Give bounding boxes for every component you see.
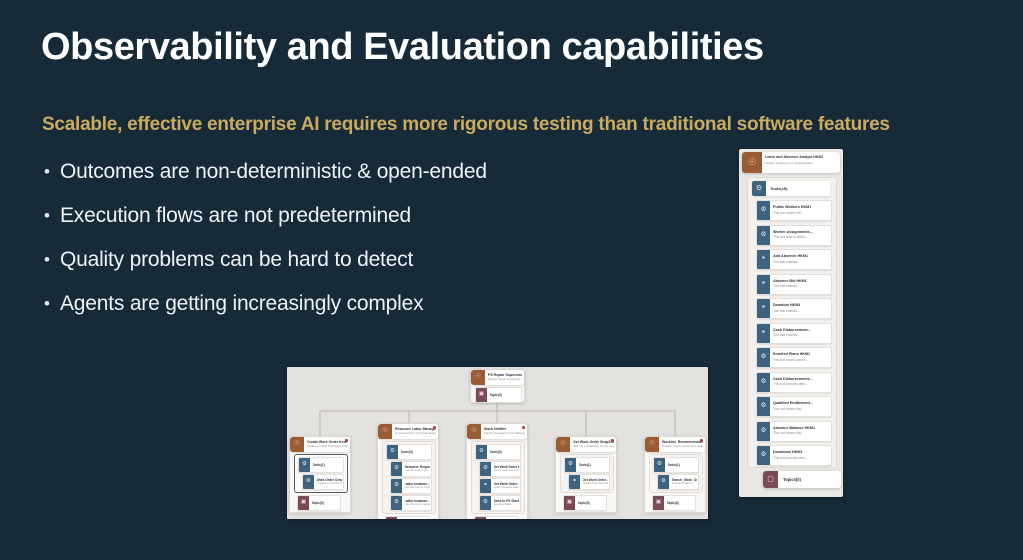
tool-desc: This tool returns the... bbox=[773, 211, 811, 215]
tools-icon: ⚙ bbox=[387, 445, 398, 459]
tool-desc: This tool returns detail... bbox=[773, 235, 813, 239]
slide-root: Observability and Evaluation capabilitie… bbox=[0, 0, 1023, 560]
flowchart-agent-node[interactable]: ☉Slack NotifierSends messages to the Mai… bbox=[466, 423, 528, 519]
list-item[interactable]: ⚙Labor Instance...Use this tool to check… bbox=[390, 478, 432, 494]
flowchart-agent-node[interactable]: ☉Worklist_RecommendationProvides high-co… bbox=[644, 436, 706, 513]
tools-icon: ⚙ bbox=[299, 458, 310, 472]
node-tools-header[interactable]: ⚙Tools(1) bbox=[564, 457, 610, 473]
node-tools-group[interactable]: ⚙Tools(3)⚙Get Work Order By...Query work… bbox=[471, 441, 525, 514]
tool-name: Topic(0) bbox=[490, 393, 502, 397]
tool-name: Enrolled Plans HKM1 bbox=[773, 352, 810, 357]
bullet-marker-icon: • bbox=[44, 292, 60, 316]
tools-icon: ⚙ bbox=[654, 458, 665, 472]
flowchart-root-node[interactable]: ☉PS Repair SupervisorRecommends Supervis… bbox=[470, 369, 525, 403]
tool-desc: Order the work status... bbox=[494, 486, 520, 490]
panel-agent-header: ☉ Leave and Absence Analyst HKM1 Assists… bbox=[742, 152, 840, 173]
page-subtitle: Scalable, effective enterprise AI requir… bbox=[42, 114, 890, 136]
status-badge bbox=[700, 439, 703, 442]
node-topics-row[interactable]: ▣Topic(0) bbox=[563, 495, 607, 511]
agent-icon: ☉ bbox=[556, 437, 570, 452]
tool-name: Labor Instance... bbox=[405, 499, 431, 503]
tools-count: Tools(1) bbox=[313, 463, 325, 467]
list-item[interactable]: ⚭Add Absence HKM1Tool that enables... bbox=[756, 249, 832, 270]
list-item[interactable]: ⚭Get Work Order...Order the work status.… bbox=[479, 478, 521, 494]
status-badge bbox=[522, 426, 525, 429]
flowchart-agent-node[interactable]: ☉Create Work Order from WorkCreate an Wo… bbox=[289, 436, 351, 513]
tool-desc: This tool returns the... bbox=[773, 407, 813, 411]
list-item[interactable]: ⚙Send to PS Slack...Sending Slack... bbox=[479, 495, 521, 511]
agent-flowchart-screenshot: ☉PS Repair SupervisorRecommends Supervis… bbox=[287, 367, 708, 519]
gear-icon: ⚙ bbox=[757, 373, 770, 392]
status-badge bbox=[345, 439, 348, 442]
node-subtitle: Sends messages to the Maintenance... bbox=[484, 431, 525, 435]
tool-desc: This tool returns absen... bbox=[773, 358, 810, 362]
list-item: • Execution flows are not predetermined bbox=[44, 204, 664, 228]
node-tools-group[interactable]: ⚙Tools(1)⚭Get Work Order...Obtain this p… bbox=[560, 454, 614, 493]
link-icon: ⚭ bbox=[480, 479, 491, 493]
node-topics-row[interactable]: ▣Topic(0) bbox=[475, 387, 522, 403]
tools-count: Tools(3) bbox=[490, 450, 502, 454]
list-item[interactable]: ⚙Work Order CreatorCreates a new ITC Wor… bbox=[302, 474, 344, 490]
node-subtitle: Provides high-control work defines... bbox=[662, 444, 703, 448]
list-item[interactable]: ⚭Absence Bid HKM1Tool that enables... bbox=[756, 274, 832, 295]
gear-icon: ⚙ bbox=[757, 446, 770, 465]
tool-name: Labor Instance... bbox=[405, 482, 431, 486]
topics-icon: ▣ bbox=[386, 517, 397, 519]
agent-tools-panel-screenshot: ☉ Leave and Absence Analyst HKM1 Assists… bbox=[739, 149, 843, 497]
tool-name: Donations HKM1 bbox=[773, 450, 808, 455]
gear-icon: ⚙ bbox=[757, 397, 770, 416]
link-icon: ⚭ bbox=[757, 299, 770, 318]
node-title: Worklist_Recommendation bbox=[662, 440, 703, 444]
tool-desc: This tool returns the... bbox=[773, 431, 815, 435]
topics-icon: ▣ bbox=[475, 517, 486, 519]
list-item[interactable]: ⚙Get Work Order By...Query work and form… bbox=[479, 461, 521, 477]
bullet-marker-icon: • bbox=[44, 160, 60, 184]
agent-icon: ☉ bbox=[645, 437, 659, 452]
panel-agent-subtitle: Assists employees in understandin... bbox=[765, 161, 823, 165]
panel-topics-footer[interactable]: ▢ Topics(0) bbox=[763, 471, 841, 488]
tool-name: Get Work Order... bbox=[583, 478, 609, 482]
gear-icon: ⚙ bbox=[757, 226, 770, 245]
tool-name: Topic(0) bbox=[667, 501, 679, 505]
node-topics-row[interactable]: ▣Topic(0) bbox=[474, 516, 518, 519]
gear-icon: ⚙ bbox=[658, 475, 669, 489]
node-tools-group[interactable]: ⚙Tools(3)⚙Resource Requiremen...Use this… bbox=[382, 441, 436, 514]
tool-name: Topic(0) bbox=[578, 501, 590, 505]
panel-tools-header[interactable]: ⚙ Tools(15) bbox=[752, 181, 830, 196]
bullet-text: Execution flows are not predetermined bbox=[60, 204, 411, 228]
link-icon: ⚭ bbox=[757, 250, 770, 269]
tool-desc: Tool that enables... bbox=[773, 309, 800, 313]
tool-name: Get Work Order... bbox=[494, 482, 520, 486]
tool-name: Get Work Order By... bbox=[494, 465, 520, 469]
tools-count: Tools(1) bbox=[579, 463, 591, 467]
topics-icon: ▢ bbox=[763, 471, 778, 488]
flowchart-agent-node[interactable]: ☉Resource Labor ManagerA specialized in … bbox=[377, 423, 439, 519]
tool-desc: Tool that enables... bbox=[773, 333, 811, 337]
link-icon: ⚭ bbox=[757, 324, 770, 343]
node-title: Create Work Order from Work bbox=[307, 440, 348, 444]
gear-icon: ⚙ bbox=[303, 475, 314, 489]
list-item[interactable]: ⚙Resource Requiremen...Use this tool to … bbox=[390, 461, 432, 477]
tool-desc: To Search Work... bbox=[672, 482, 698, 486]
list-item[interactable]: ⚙Qualified Entitlement...This tool retur… bbox=[756, 396, 832, 417]
tool-name: Absence Bid HKM1 bbox=[773, 279, 807, 284]
agent-icon: ☉ bbox=[742, 152, 762, 173]
tool-name: Cash Disbursement... bbox=[773, 328, 811, 333]
bullet-text: Agents are getting increasingly complex bbox=[60, 292, 423, 316]
tool-name: Worker Assignments... bbox=[773, 230, 813, 235]
bullet-text: Outcomes are non-deterministic & open-en… bbox=[60, 160, 487, 184]
node-subtitle: Returns a SnapShot on the county... bbox=[573, 444, 614, 448]
panel-topics-count: Topics(0) bbox=[778, 471, 801, 488]
gear-icon: ⚙ bbox=[480, 462, 491, 476]
bullet-list: • Outcomes are non-deterministic & open-… bbox=[44, 160, 664, 336]
tool-name: Search_Work_Orderit... bbox=[672, 478, 698, 482]
tool-desc: Sending Slack... bbox=[494, 503, 520, 507]
tool-name: Work Order Creator bbox=[317, 478, 343, 482]
gear-icon: ⚙ bbox=[757, 201, 770, 220]
node-subtitle: A specialized in technical assess... bbox=[395, 431, 436, 435]
panel-agent-title: Leave and Absence Analyst HKM1 bbox=[765, 155, 823, 160]
agent-icon: ☉ bbox=[378, 424, 392, 439]
agent-icon: ☉ bbox=[467, 424, 481, 439]
list-item[interactable]: ⚭Get Work Order...Obtain this parameters… bbox=[568, 474, 610, 490]
gear-icon: ⚙ bbox=[391, 479, 402, 493]
node-tools-group[interactable]: ⚙Tools(1)⚙Work Order CreatorCreates a ne… bbox=[294, 454, 348, 493]
node-topics-row[interactable]: ▣Topic(0) bbox=[652, 495, 696, 511]
node-title: Resource Labor Manager bbox=[395, 427, 436, 431]
tools-count: Tools(1) bbox=[668, 463, 680, 467]
tool-desc: Use this tool to update... bbox=[405, 503, 431, 507]
node-topics-row[interactable]: ▣Topic(0) bbox=[385, 516, 429, 519]
gear-icon: ⚙ bbox=[391, 496, 402, 510]
gear-icon: ⚙ bbox=[757, 348, 770, 367]
node-subtitle: Create an Work Purchase, Proposal... bbox=[307, 444, 348, 448]
tools-icon: ⚙ bbox=[565, 458, 576, 472]
node-tools-group[interactable]: ⚙Tools(1)⚙Search_Work_Orderit...To Searc… bbox=[649, 454, 703, 493]
tool-name: Resource Requiremen... bbox=[405, 465, 431, 469]
tool-name: Add Absence HKM1 bbox=[773, 254, 808, 259]
status-badge bbox=[611, 439, 614, 442]
tool-desc: Use this tool to get... bbox=[405, 469, 431, 473]
tool-name: Absence Balance HKM1 bbox=[773, 426, 815, 431]
tool-name: Qualified Entitlement... bbox=[773, 401, 813, 406]
tool-desc: This tool provides deta... bbox=[773, 456, 808, 460]
tool-name: Public Workers HKM1 bbox=[773, 205, 811, 210]
link-icon: ⚭ bbox=[569, 475, 580, 489]
topics-icon: ▣ bbox=[476, 388, 487, 402]
topics-icon: ▣ bbox=[653, 496, 664, 510]
node-subtitle: Recommends Supervisor for... bbox=[488, 377, 522, 381]
gear-icon: ⚙ bbox=[757, 422, 770, 441]
list-item[interactable]: ⚭Donation HKM1Tool that enables... bbox=[756, 298, 832, 319]
tool-desc: Creates a new ITC Work... bbox=[317, 482, 343, 486]
topics-icon: ▣ bbox=[298, 496, 309, 510]
gear-icon: ⚙ bbox=[391, 462, 402, 476]
list-item: • Outcomes are non-deterministic & open-… bbox=[44, 160, 664, 184]
bullet-text: Quality problems can be hard to detect bbox=[60, 248, 413, 272]
flowchart-agent-node[interactable]: ☉Get Work Order SnapShotReturns a SnapSh… bbox=[555, 436, 617, 513]
list-item[interactable]: ⚙Search_Work_Orderit...To Search Work... bbox=[657, 474, 699, 490]
gear-icon: ⚙ bbox=[480, 496, 491, 510]
page-title: Observability and Evaluation capabilitie… bbox=[41, 26, 764, 69]
node-tools-header[interactable]: ⚙Tools(3) bbox=[475, 444, 521, 460]
tool-name: Topic(0) bbox=[312, 501, 324, 505]
tool-name: Donation HKM1 bbox=[773, 303, 800, 308]
tools-icon: ⚙ bbox=[476, 445, 487, 459]
link-icon: ⚭ bbox=[757, 275, 770, 294]
tool-desc: Tool that enables... bbox=[773, 260, 808, 264]
tool-desc: This tool provides deta... bbox=[773, 382, 813, 386]
list-item[interactable]: ⚙Enrolled Plans HKM1This tool returns ab… bbox=[756, 347, 832, 368]
node-title: PS Repair Supervisor bbox=[488, 373, 522, 377]
panel-tools-body: ⚙ Tools(15) ⚙Public Workers HKM1This too… bbox=[747, 177, 837, 468]
tool-desc: Query work and format... bbox=[494, 469, 520, 473]
tool-desc: Tool that enables... bbox=[773, 284, 807, 288]
node-title: Slack Notifier bbox=[484, 427, 525, 431]
agent-icon: ☉ bbox=[471, 370, 485, 385]
list-item[interactable]: ⚙Labor Instance...Use this tool to updat… bbox=[390, 495, 432, 511]
tool-desc: Obtain this parameters... bbox=[583, 482, 609, 486]
list-item[interactable]: ⚙Worker Assignments...This tool returns … bbox=[756, 225, 832, 246]
node-title: Get Work Order SnapShot bbox=[573, 440, 614, 444]
node-tools-header[interactable]: ⚙Tools(1) bbox=[298, 457, 344, 473]
list-item: • Agents are getting increasingly comple… bbox=[44, 292, 664, 316]
tool-name: Cash Disbursements... bbox=[773, 377, 813, 382]
list-item[interactable]: ⚭Cash Disbursement...Tool that enables..… bbox=[756, 323, 832, 344]
node-tools-header[interactable]: ⚙Tools(3) bbox=[386, 444, 432, 460]
panel-tool-list: ⚙Public Workers HKM1This tool returns th… bbox=[756, 200, 832, 468]
tools-count: Tools(3) bbox=[401, 450, 413, 454]
tool-name: Send to PS Slack... bbox=[494, 499, 520, 503]
topics-icon: ▣ bbox=[564, 496, 575, 510]
agent-icon: ☉ bbox=[290, 437, 304, 452]
bullet-marker-icon: • bbox=[44, 204, 60, 228]
tool-desc: Use this tool to check a... bbox=[405, 486, 431, 490]
panel-tools-count: Tools(15) bbox=[766, 181, 787, 196]
node-tools-header[interactable]: ⚙Tools(1) bbox=[653, 457, 699, 473]
list-item[interactable]: ⚙Public Workers HKM1This tool returns th… bbox=[756, 200, 832, 221]
flowchart-canvas: ☉PS Repair SupervisorRecommends Supervis… bbox=[287, 367, 708, 519]
list-item: • Quality problems can be hard to detect bbox=[44, 248, 664, 272]
status-badge bbox=[433, 426, 436, 429]
list-item[interactable]: ⚙Absence Balance HKM1This tool returns t… bbox=[756, 421, 832, 442]
bullet-marker-icon: • bbox=[44, 248, 60, 272]
list-item[interactable]: ⚙Donations HKM1This tool provides deta..… bbox=[756, 445, 832, 466]
list-item[interactable]: ⚙Cash Disbursements...This tool provides… bbox=[756, 372, 832, 393]
tools-icon: ⚙ bbox=[752, 181, 766, 196]
node-topics-row[interactable]: ▣Topic(0) bbox=[297, 495, 341, 511]
